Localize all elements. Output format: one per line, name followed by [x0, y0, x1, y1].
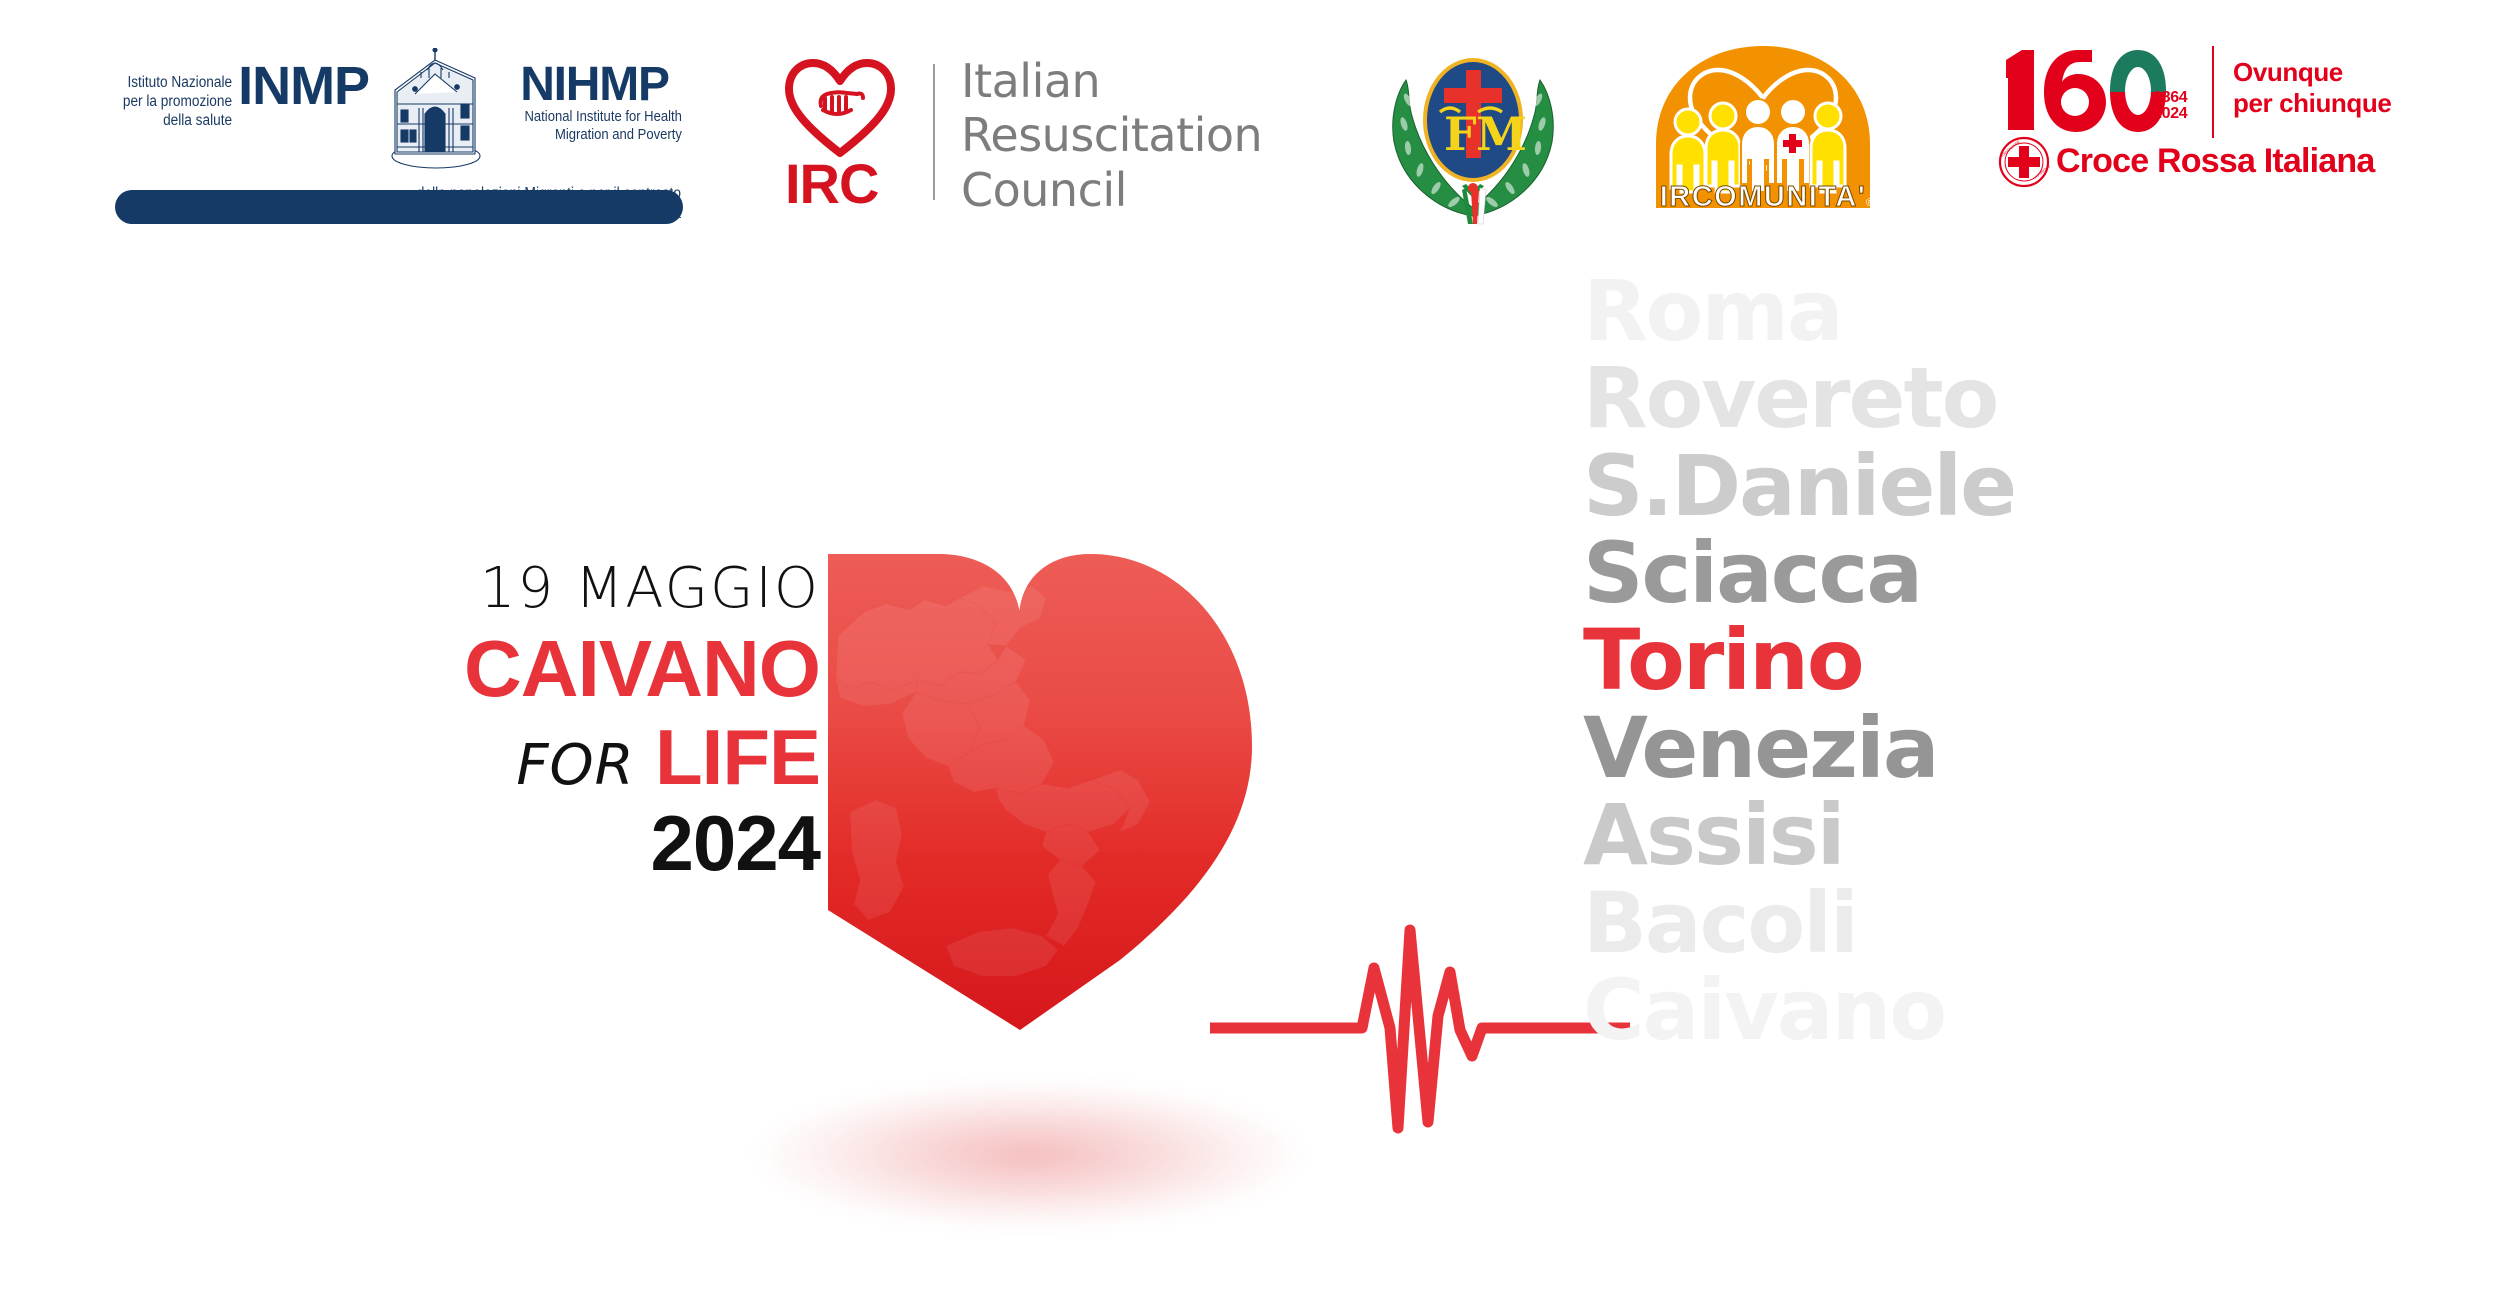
croce-rossa-italiana-logo: 1864 2024 Ovunque per chiunque CONVENZIO… [2000, 44, 2395, 186]
city-tour-list: Roma Rovereto S.Daniele Sciacca Torino V… [1583, 268, 2343, 1054]
list-item[interactable]: S.Daniele [1583, 443, 2343, 530]
nihmp-english-text: National Institute for Health Migration … [525, 108, 682, 144]
ircomunita-wordmark: IRCOMUNITA' [1660, 181, 1867, 212]
svg-text:F: F [1444, 107, 1477, 161]
heart-with-italy-map [820, 540, 1260, 1040]
tagline-life: LIFE [655, 713, 820, 801]
list-item[interactable]: Assisi [1583, 792, 2343, 879]
anniversary-years: 1864 2024 [2153, 90, 2187, 123]
neoclassical-building-icon [371, 48, 501, 170]
nihmp-acronym: NIHMP [507, 62, 682, 108]
year-to: 2024 [2153, 106, 2187, 122]
list-item[interactable]: Rovereto [1583, 355, 2343, 442]
list-item[interactable]: Bacoli [1583, 880, 2343, 967]
inmp-line-2: per la promozione [123, 93, 232, 112]
cri-divider [2212, 46, 2214, 138]
inmp-acronym: INMP [238, 62, 369, 112]
list-item[interactable]: Roma [1583, 268, 2343, 355]
year-from: 1864 [2153, 90, 2187, 106]
irc-word-resuscitation: Resuscitation [961, 108, 1262, 162]
cri-org-name: Croce Rossa Italiana [2056, 142, 2374, 181]
poster-main-stage: 19 MAGGIO CAIVANO FOR LIFE 2024 Roma Rov… [0, 260, 2500, 1308]
tagline-for: FOR [516, 733, 634, 798]
ecg-heartbeat-line [1210, 870, 1630, 1170]
irc-word-italian: Italian [961, 54, 1262, 108]
nihmp-line-2: Migration and Poverty [525, 126, 682, 144]
event-title-block: 19 MAGGIO CAIVANO FOR LIFE 2024 [300, 560, 820, 885]
inmp-line-1: Istituto Nazionale [123, 74, 232, 93]
list-item-current-city[interactable]: Torino [1583, 617, 2343, 704]
ircomunita-logo: IRCOMUNITA' ® [1648, 40, 1878, 212]
list-item[interactable]: Caivano [1583, 967, 2343, 1054]
laurel-wreath-crest-icon: F M [1393, 58, 1554, 224]
event-year: 2024 [300, 803, 820, 885]
cri-slogan-line-2: per chiunque [2233, 88, 2391, 119]
inmp-nihmp-logo: Istituto Nazionale per la promozione del… [105, 62, 685, 212]
irc-wordmark: Italian Resuscitation Council [961, 54, 1262, 217]
inmp-italian-text: Istituto Nazionale per la promozione del… [123, 62, 232, 131]
red-cross-emblem-icon: CONVENZIONE DI GINEVRA [1998, 136, 2050, 188]
event-city-title: CAIVANO [300, 627, 820, 711]
cri-slogan-line-1: Ovunque [2233, 57, 2391, 88]
nihmp-line-1: National Institute for Health [525, 108, 682, 126]
heart-with-hand-icon [785, 58, 895, 158]
list-item[interactable]: Venezia [1583, 705, 2343, 792]
irc-acronym: IRC [785, 156, 878, 212]
irc-word-council: Council [961, 163, 1262, 217]
svg-text:®: ® [1866, 197, 1874, 209]
svg-text:M: M [1476, 107, 1527, 161]
irc-divider [933, 64, 935, 200]
fatebenefratelli-crest-logo: F M [1378, 38, 1568, 228]
inmp-line-3: della salute [123, 112, 232, 131]
people-holding-hands-heart-icon [1671, 99, 1845, 192]
irc-logo: IRC Italian Resuscitation Council [785, 58, 1315, 208]
list-item[interactable]: Sciacca [1583, 530, 2343, 617]
header-logo-band: Istituto Nazionale per la promozione del… [0, 0, 2500, 260]
cri-slogan: Ovunque per chiunque [2233, 57, 2391, 118]
inmp-blue-bar [115, 190, 683, 224]
event-date: 19 MAGGIO [300, 560, 820, 619]
event-tagline: FOR LIFE [300, 717, 820, 799]
